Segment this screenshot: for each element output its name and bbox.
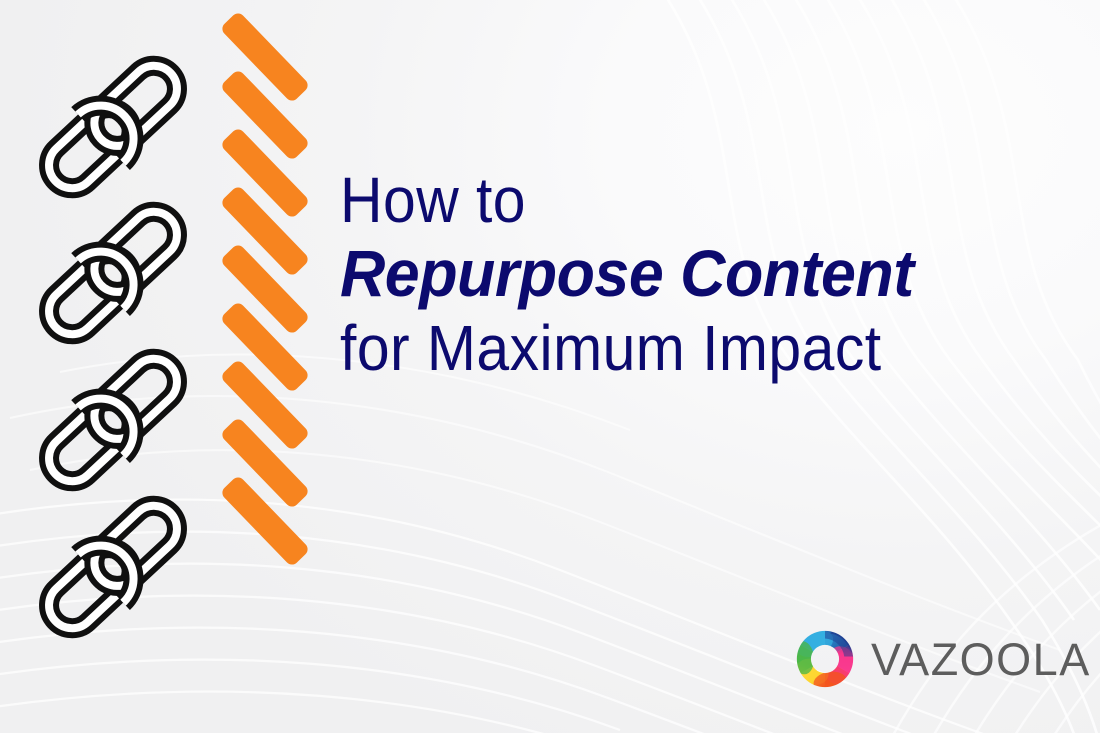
vazoola-logo[interactable]: VAZOOLA bbox=[793, 627, 1091, 691]
orange-stripe-decoration bbox=[203, 22, 323, 542]
headline-block: How to Repurpose Content for Maximum Imp… bbox=[340, 168, 1040, 383]
vazoola-ring-icon bbox=[793, 627, 857, 691]
chain-link-decoration-column bbox=[0, 0, 215, 733]
vazoola-wordmark: VAZOOLA bbox=[871, 637, 1091, 682]
chain-link-icon bbox=[18, 472, 208, 662]
blog-banner: How to Repurpose Content for Maximum Imp… bbox=[0, 0, 1100, 733]
headline-line-3: for Maximum Impact bbox=[340, 314, 984, 383]
headline-line-1: How to bbox=[340, 168, 984, 233]
headline-line-2: Repurpose Content bbox=[340, 233, 1005, 314]
